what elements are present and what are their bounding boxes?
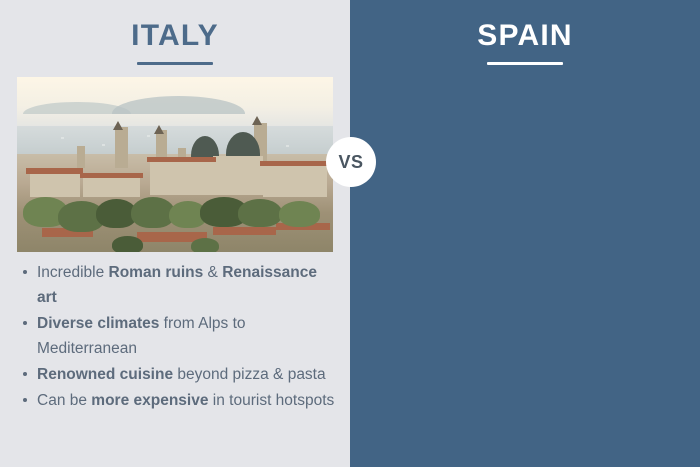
- page-title-spain: SPAIN: [350, 18, 700, 54]
- list-item-emphasis: Renowned cuisine: [37, 366, 173, 383]
- italy-building: [30, 172, 81, 197]
- page-title-italy: ITALY: [0, 18, 350, 54]
- italy-bell-tower: [115, 127, 128, 168]
- italy-tree: [112, 236, 144, 252]
- list-item-text: &: [203, 264, 222, 281]
- italy-roof: [80, 173, 143, 178]
- list-item: Incredible Roman ruins & Renaissance art: [21, 260, 339, 310]
- spain-title-block: SPAIN: [350, 18, 700, 65]
- list-item-emphasis: more expensive: [91, 392, 208, 409]
- photo-italy: [17, 77, 333, 252]
- panel-spain: SPAIN: [350, 0, 700, 467]
- title-underline-spain: [487, 62, 563, 65]
- italy-building: [263, 164, 326, 197]
- italy-building: [213, 156, 264, 195]
- list-item-emphasis: Roman ruins: [109, 264, 204, 281]
- vs-badge: VS: [326, 137, 376, 187]
- list-item: Can be more expensive in tourist hotspot…: [21, 388, 339, 413]
- list-item-text: Can be: [37, 392, 91, 409]
- panel-italy: ITALY: [0, 0, 350, 467]
- list-item-text: in tourist hotspots: [208, 392, 334, 409]
- list-item-emphasis: Diverse climates: [37, 315, 159, 332]
- vs-label: VS: [338, 152, 363, 173]
- italy-building: [150, 160, 213, 195]
- italy-roof: [147, 157, 217, 162]
- title-underline-italy: [137, 62, 213, 65]
- italy-bullet-list: Incredible Roman ruins & Renaissance art…: [21, 260, 339, 414]
- italy-tree: [191, 238, 219, 252]
- italy-building: [83, 176, 140, 198]
- comparison-infographic: ITALY: [0, 0, 700, 467]
- italy-tree: [238, 199, 282, 226]
- italy-cityscape: [17, 154, 333, 252]
- list-item: Diverse climates from Alps to Mediterran…: [21, 311, 339, 361]
- italy-small-tower: [77, 146, 85, 168]
- italy-roof: [260, 161, 330, 166]
- italy-tree: [279, 201, 320, 226]
- italy-roof: [26, 168, 83, 174]
- list-item-text: Incredible: [37, 264, 109, 281]
- photo-italy-scene: [17, 77, 333, 252]
- italy-title-block: ITALY: [0, 18, 350, 65]
- list-item-text: beyond pizza & pasta: [173, 366, 326, 383]
- list-item: Renowned cuisine beyond pizza & pasta: [21, 362, 339, 387]
- italy-roof: [213, 227, 276, 236]
